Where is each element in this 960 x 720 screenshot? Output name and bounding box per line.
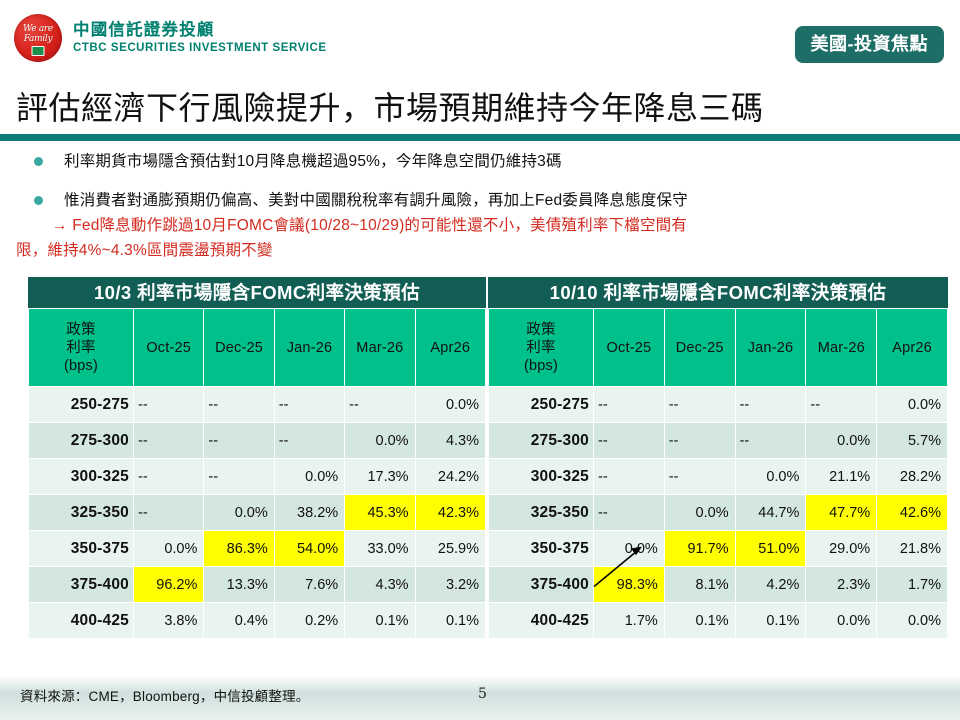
title-divider [0,134,960,141]
table-cell: 17.3% [345,459,415,495]
table-header-row: 政策 利率 (bps) Oct-25 Dec-25 Jan-26 Mar-26 … [29,309,486,387]
table-cell: 0.0% [664,495,735,531]
table-cell: -- [594,495,665,531]
column-header-apr26: Apr26 [877,309,948,387]
table-row: 350-3750.0%91.7%51.0%29.0%21.8% [489,531,948,567]
bullet-text: 惟消費者對通膨預期仍偏高、美對中國關稅稅率有調升風險，再加上Fed委員降息態度保… [64,189,688,213]
table-cell: 0.2% [274,603,344,639]
table-cell: 0.1% [345,603,415,639]
table-cell: 21.1% [806,459,877,495]
table-row: 250-275--------0.0% [29,387,486,423]
column-header-oct-25: Oct-25 [134,309,204,387]
table-cell: -- [204,459,274,495]
table-cell: -- [735,387,806,423]
table-cell: 33.0% [345,531,415,567]
row-label: 375-400 [29,567,134,603]
table-row: 375-40098.3%8.1%4.2%2.3%1.7% [489,567,948,603]
table-cell: 0.0% [877,387,948,423]
table-cell: 54.0% [274,531,344,567]
table-cell: -- [134,423,204,459]
we-are-family-logo-icon: We are Family [14,14,62,62]
table-cell: -- [274,423,344,459]
table-cell: -- [204,423,274,459]
table-cell: 3.2% [415,567,485,603]
table-cell: 0.0% [877,603,948,639]
column-header-jan-26: Jan-26 [274,309,344,387]
table-cell: -- [204,387,274,423]
column-header-jan-26: Jan-26 [735,309,806,387]
column-header-policy-rate: 政策 利率 (bps) [29,309,134,387]
slide-footer: 資料來源：CME，Bloomberg，中信投顧整理。 5 [0,675,960,720]
row-label: 275-300 [489,423,594,459]
table-cell: 7.6% [274,567,344,603]
table-cell: -- [345,387,415,423]
bullet-list: 利率期貨市場隱含預估對10月降息機超過95%，今年降息空間仍維持3碼 惟消費者對… [0,150,960,263]
column-header-policy-rate: 政策 利率 (bps) [489,309,594,387]
topic-badge: 美國-投資焦點 [795,26,945,63]
table-cell: 0.0% [735,459,806,495]
slide-header: We are Family 中國信託證券投顧 CTBC SECURITIES I… [0,0,960,82]
table-cell: 13.3% [204,567,274,603]
table-cell: 28.2% [877,459,948,495]
table-cell: 38.2% [274,495,344,531]
row-label: 300-325 [29,459,134,495]
table-cell: 0.0% [806,603,877,639]
list-item: 利率期貨市場隱含預估對10月降息機超過95%，今年降息空間仍維持3碼 [0,150,960,174]
table-title: 10/3 利率市場隱含FOMC利率決策預估 [28,277,486,308]
logo-chip-icon [32,46,45,56]
row-label: 350-375 [29,531,134,567]
table-row: 325-350--0.0%38.2%45.3%42.3% [29,495,486,531]
table-cell: 0.1% [415,603,485,639]
column-header-apr26: Apr26 [415,309,485,387]
table-row: 275-300------0.0%5.7% [489,423,948,459]
table-cell: 25.9% [415,531,485,567]
row-label: 250-275 [29,387,134,423]
table-row: 400-4253.8%0.4%0.2%0.1%0.1% [29,603,486,639]
table-cell: -- [134,495,204,531]
table-cell: -- [134,459,204,495]
bullet-dot-icon [34,157,43,166]
table-cell: -- [274,387,344,423]
row-label: 400-425 [489,603,594,639]
brand-text: 中國信託證券投顧 CTBC SECURITIES INVESTMENT SERV… [73,20,327,56]
brand-name-en: CTBC SECURITIES INVESTMENT SERVICE [73,40,327,56]
table-cell: 0.4% [204,603,274,639]
table-cell: 0.0% [345,423,415,459]
table-cell: 86.3% [204,531,274,567]
brand-name-cn: 中國信託證券投顧 [73,20,327,40]
row-label: 350-375 [489,531,594,567]
table-row: 350-3750.0%86.3%54.0%33.0%25.9% [29,531,486,567]
source-note: 資料來源：CME，Bloomberg，中信投顧整理。 [20,685,309,705]
table-block-10-10: 10/10 利率市場隱含FOMC利率決策預估 政策 利率 (bps) Oct-2… [488,277,948,639]
table-cell: -- [594,459,665,495]
table-cell: 0.0% [415,387,485,423]
table-cell: -- [664,387,735,423]
title-section: 評估經濟下行風險提升，市場預期維持今年降息三碼 [0,84,960,141]
table-cell: 8.1% [664,567,735,603]
table-cell: -- [594,387,665,423]
row-label: 375-400 [489,567,594,603]
tables-section: 10/3 利率市場隱含FOMC利率決策預估 政策 利率 (bps) Oct-25… [0,277,960,639]
table-row: 325-350--0.0%44.7%47.7%42.6% [489,495,948,531]
row-label: 325-350 [489,495,594,531]
table-row: 275-300------0.0%4.3% [29,423,486,459]
table-cell: 0.0% [204,495,274,531]
table-cell: 51.0% [735,531,806,567]
table-title: 10/10 利率市場隱含FOMC利率決策預估 [488,277,948,308]
table-body: 250-275--------0.0%275-300------0.0%4.3%… [29,387,486,639]
table-cell: 5.7% [877,423,948,459]
page-title: 評估經濟下行風險提升，市場預期維持今年降息三碼 [0,84,960,132]
list-item: 惟消費者對通膨預期仍偏高、美對中國關稅稅率有調升風險，再加上Fed委員降息態度保… [0,189,960,213]
table-cell: 24.2% [415,459,485,495]
table-body: 250-275--------0.0%275-300------0.0%5.7%… [489,387,948,639]
table-cell: 0.0% [274,459,344,495]
column-header-mar-26: Mar-26 [345,309,415,387]
table-cell: 4.3% [415,423,485,459]
column-header-dec-25: Dec-25 [204,309,274,387]
table-row: 400-4251.7%0.1%0.1%0.0%0.0% [489,603,948,639]
table-row: 375-40096.2%13.3%7.6%4.3%3.2% [29,567,486,603]
row-label: 400-425 [29,603,134,639]
table-cell: 0.0% [806,423,877,459]
column-header-dec-25: Dec-25 [664,309,735,387]
column-header-oct-25: Oct-25 [594,309,665,387]
table-cell: 91.7% [664,531,735,567]
sub-note-line-2: 限，維持4%~4.3%區間震盪預期不變 [16,238,960,263]
bullet-dot-icon [34,196,43,205]
row-label: 250-275 [489,387,594,423]
table-cell: -- [134,387,204,423]
table-cell: 0.1% [664,603,735,639]
table-row: 300-325----0.0%17.3%24.2% [29,459,486,495]
table-cell: 1.7% [877,567,948,603]
table-cell: 45.3% [345,495,415,531]
table-cell: -- [664,459,735,495]
bullet-text: 利率期貨市場隱含預估對10月降息機超過95%，今年降息空間仍維持3碼 [64,150,562,174]
table-cell: 44.7% [735,495,806,531]
table-cell: 3.8% [134,603,204,639]
table-cell: 0.0% [134,531,204,567]
row-label: 300-325 [489,459,594,495]
table-cell: 4.3% [345,567,415,603]
rates-table-10-3: 政策 利率 (bps) Oct-25 Dec-25 Jan-26 Mar-26 … [28,308,486,639]
row-label: 325-350 [29,495,134,531]
table-cell: -- [806,387,877,423]
table-cell: 96.2% [134,567,204,603]
table-cell: -- [735,423,806,459]
table-cell: 0.0% [594,531,665,567]
table-cell: 47.7% [806,495,877,531]
table-row: 300-325----0.0%21.1%28.2% [489,459,948,495]
table-cell: -- [664,423,735,459]
table-row: 250-275--------0.0% [489,387,948,423]
table-block-10-3: 10/3 利率市場隱含FOMC利率決策預估 政策 利率 (bps) Oct-25… [28,277,486,639]
row-label: 275-300 [29,423,134,459]
table-cell: 42.6% [877,495,948,531]
brand-lockup: We are Family 中國信託證券投顧 CTBC SECURITIES I… [14,14,327,62]
sub-note-line-1: → Fed降息動作跳過10月FOMC會議(10/28~10/29)的可能性還不小… [34,213,960,238]
column-header-mar-26: Mar-26 [806,309,877,387]
table-cell: 21.8% [877,531,948,567]
page-number: 5 [478,686,487,702]
table-header-row: 政策 利率 (bps) Oct-25 Dec-25 Jan-26 Mar-26 … [489,309,948,387]
rates-table-10-10: 政策 利率 (bps) Oct-25 Dec-25 Jan-26 Mar-26 … [488,308,948,639]
table-cell: -- [594,423,665,459]
table-cell: 2.3% [806,567,877,603]
table-cell: 0.1% [735,603,806,639]
table-cell: 98.3% [594,567,665,603]
table-cell: 4.2% [735,567,806,603]
table-cell: 1.7% [594,603,665,639]
table-cell: 42.3% [415,495,485,531]
table-cell: 29.0% [806,531,877,567]
